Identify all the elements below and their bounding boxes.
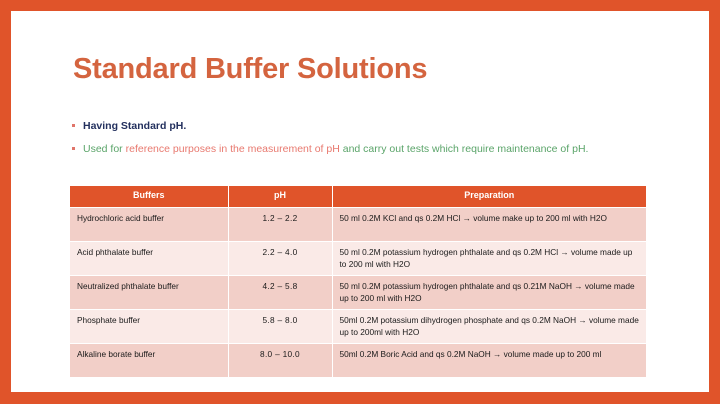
bullet-text-segment-1: Used for xyxy=(83,143,126,155)
cell-preparation: 50ml 0.2M potassium dihydrogen phosphate… xyxy=(332,310,646,344)
column-header-preparation: Preparation xyxy=(332,186,646,208)
page-title: Standard Buffer Solutions xyxy=(73,53,427,86)
table-header: Buffers pH Preparation xyxy=(70,186,646,208)
cell-ph: 5.8 – 8.0 xyxy=(228,310,332,344)
cell-ph: 8.0 – 10.0 xyxy=(228,344,332,378)
table-body: Hydrochloric acid buffer 1.2 – 2.2 50 ml… xyxy=(70,208,646,378)
cell-buffer: Phosphate buffer xyxy=(70,310,228,344)
cell-buffer: Neutralized phthalate buffer xyxy=(70,276,228,310)
column-header-buffers: Buffers xyxy=(70,186,228,208)
table-row: Hydrochloric acid buffer 1.2 – 2.2 50 ml… xyxy=(70,208,646,242)
slide: Standard Buffer Solutions Having Standar… xyxy=(0,0,720,404)
cell-ph: 1.2 – 2.2 xyxy=(228,208,332,242)
cell-buffer: Acid phthalate buffer xyxy=(70,242,228,276)
bullet-marker-icon xyxy=(72,124,75,127)
buffer-table: Buffers pH Preparation Hydrochloric acid… xyxy=(70,186,646,378)
table-row: Acid phthalate buffer 2.2 – 4.0 50 ml 0.… xyxy=(70,242,646,276)
bullet-text-segment-2: reference purposes in the measurement of… xyxy=(126,143,343,155)
bullet-text: Having Standard pH. xyxy=(83,120,186,132)
slide-content-area: Standard Buffer Solutions Having Standar… xyxy=(11,11,709,392)
table-header-row: Buffers pH Preparation xyxy=(70,186,646,208)
bullet-list: Having Standard pH. Used for reference p… xyxy=(71,119,659,165)
cell-ph: 4.2 – 5.8 xyxy=(228,276,332,310)
bullet-marker-icon xyxy=(72,147,75,150)
table-row: Phosphate buffer 5.8 – 8.0 50ml 0.2M pot… xyxy=(70,310,646,344)
table-row: Neutralized phthalate buffer 4.2 – 5.8 5… xyxy=(70,276,646,310)
column-header-ph: pH xyxy=(228,186,332,208)
bullet-text-segment-3: and carry out tests which require mainte… xyxy=(343,143,589,155)
cell-preparation: 50ml 0.2M Boric Acid and qs 0.2M NaOH → … xyxy=(332,344,646,378)
cell-buffer: Alkaline borate buffer xyxy=(70,344,228,378)
cell-ph: 2.2 – 4.0 xyxy=(228,242,332,276)
list-item: Having Standard pH. xyxy=(71,119,659,133)
cell-preparation: 50 ml 0.2M potassium hydrogen phthalate … xyxy=(332,276,646,310)
cell-buffer: Hydrochloric acid buffer xyxy=(70,208,228,242)
list-item: Used for reference purposes in the measu… xyxy=(71,142,659,156)
cell-preparation: 50 ml 0.2M KCl and qs 0.2M HCl → volume … xyxy=(332,208,646,242)
cell-preparation: 50 ml 0.2M potassium hydrogen phthalate … xyxy=(332,242,646,276)
table-row: Alkaline borate buffer 8.0 – 10.0 50ml 0… xyxy=(70,344,646,378)
